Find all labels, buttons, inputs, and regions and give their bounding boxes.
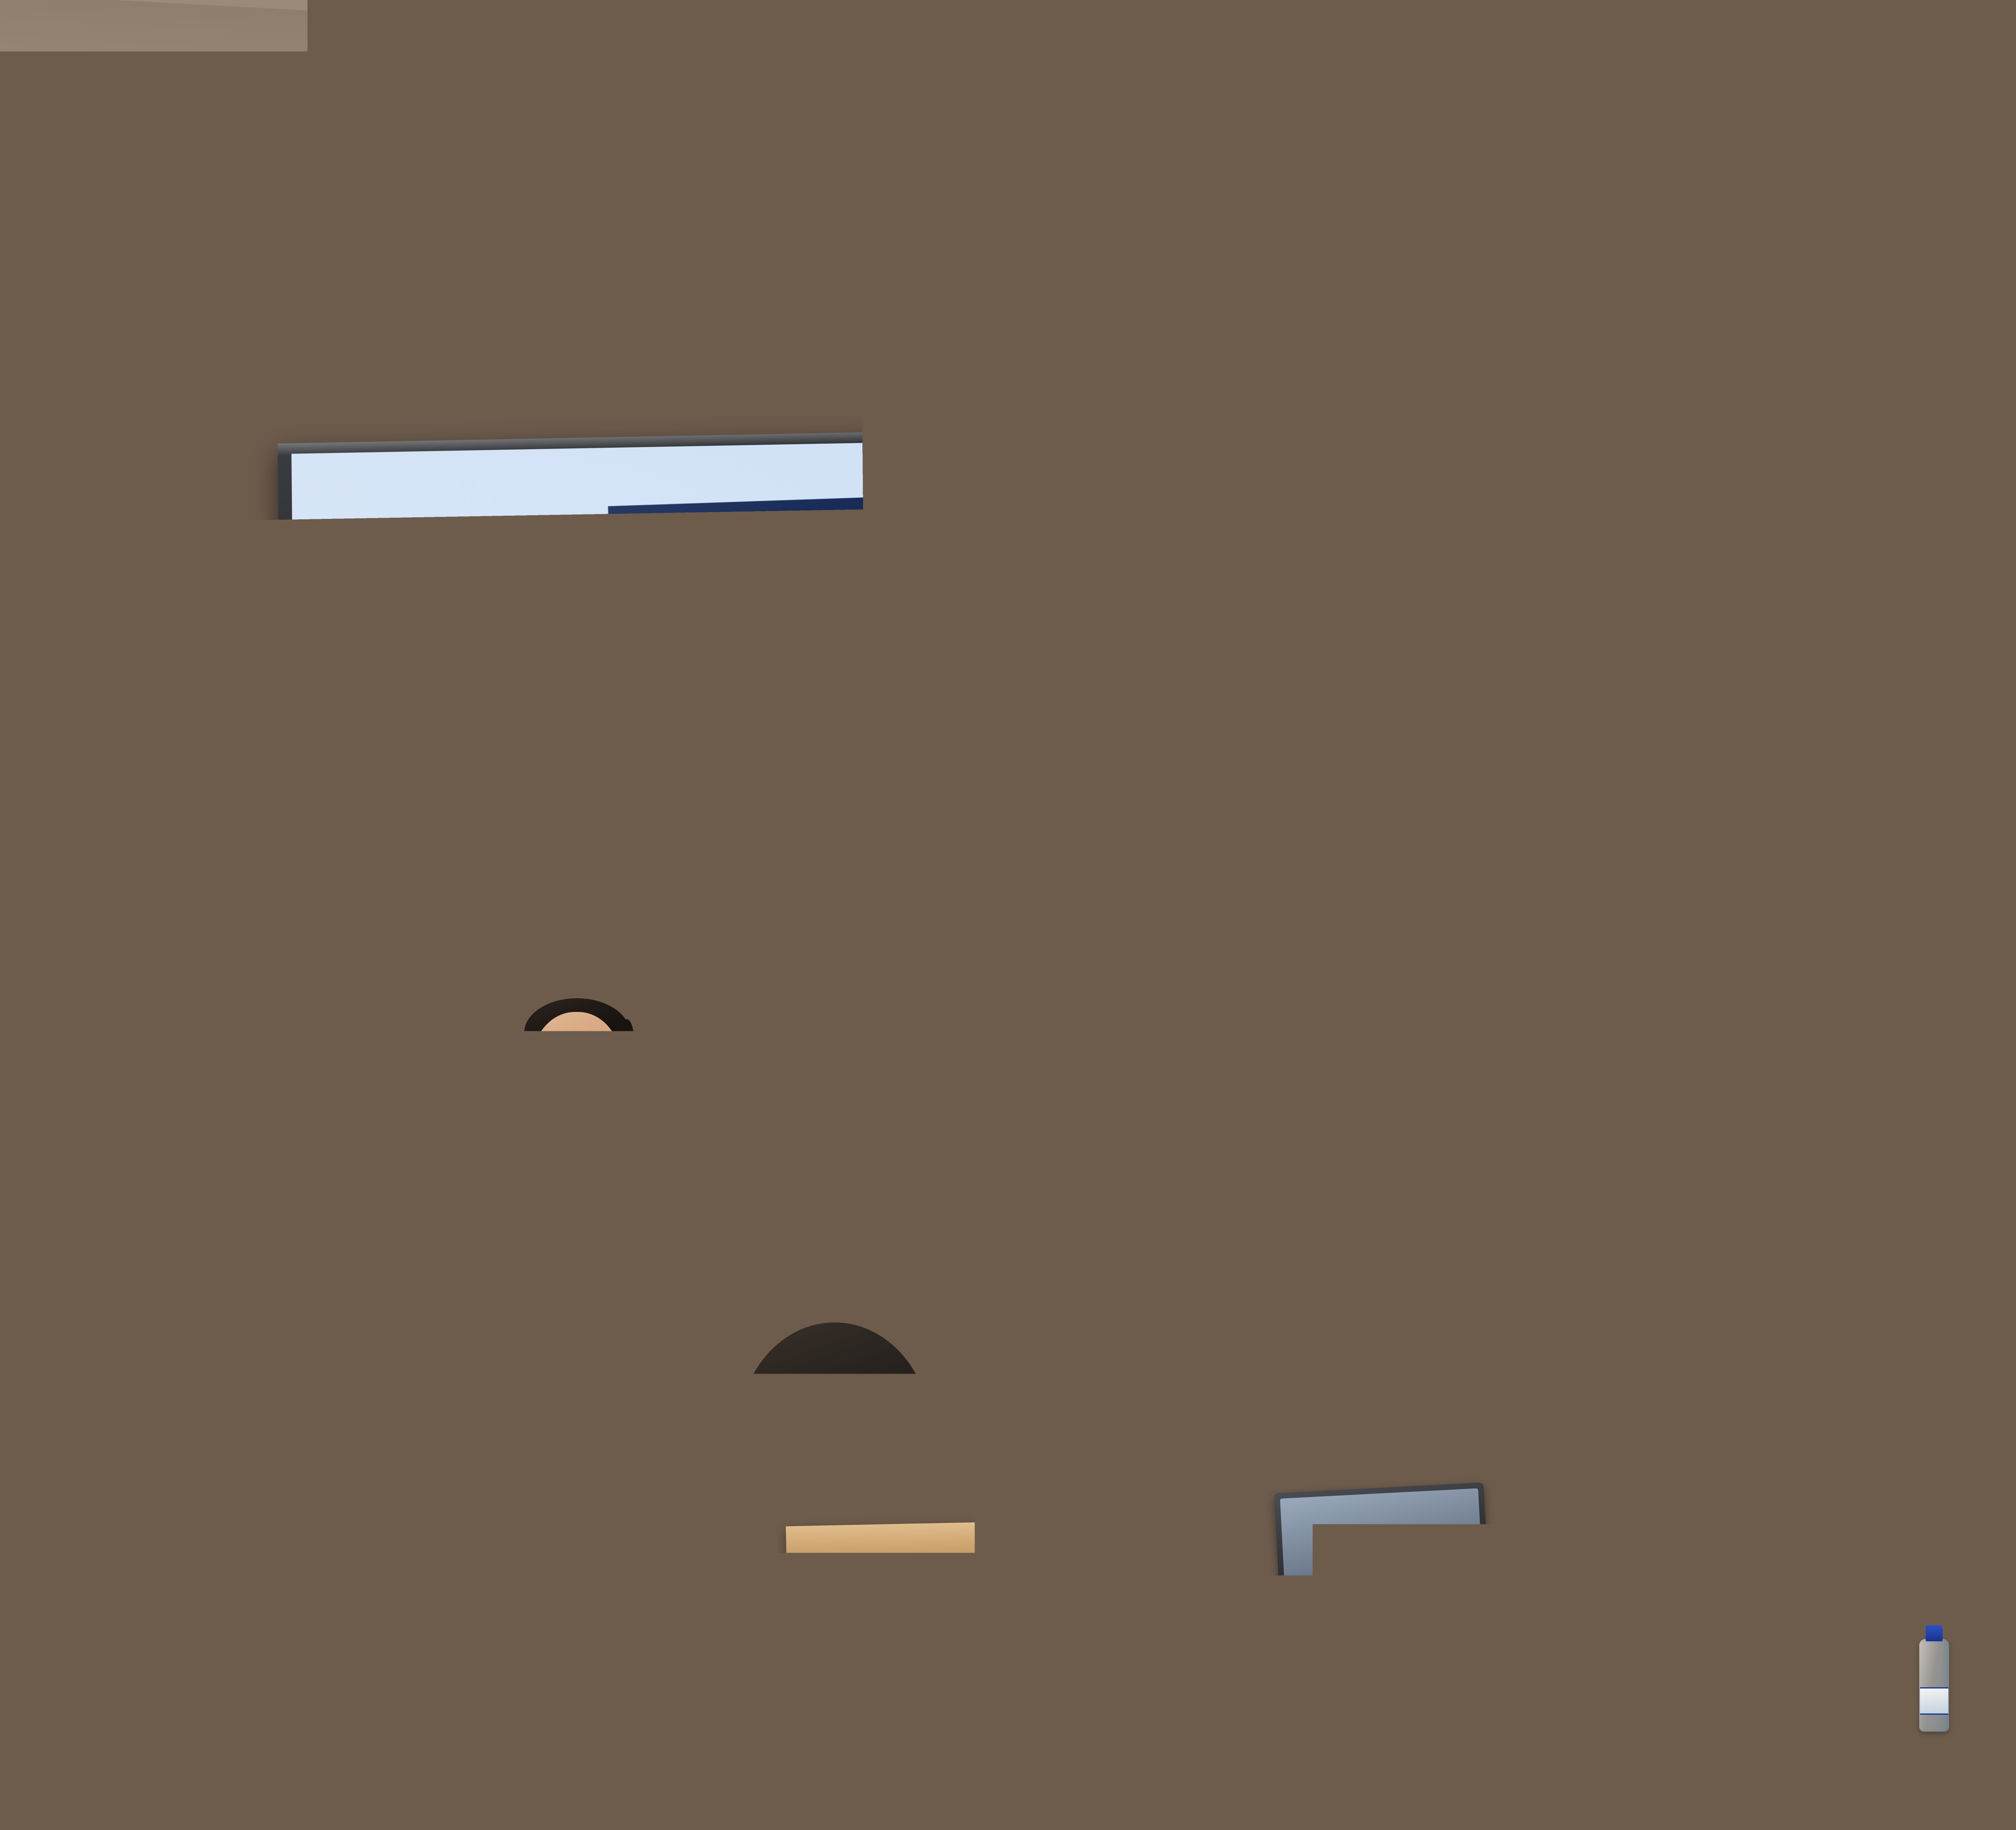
ceiling-downlight [667, 399, 728, 424]
belt-buckle [610, 1439, 635, 1459]
lecture-hall-photo: ResNets z0 = W0x̃ zk+1 = zk + Wk+1σ ∘ (z… [0, 0, 2016, 1830]
tumbler-cup [1048, 1750, 1100, 1830]
water-bottle [208, 1507, 238, 1600]
belt [481, 1435, 670, 1463]
ceiling-downlight [1230, 369, 1290, 394]
glasses-icon [581, 1055, 620, 1076]
presenter-left-hand [577, 1355, 637, 1419]
equation-2: zk+1 = zk + Wk+1σ ∘ (zk), k = 0,1,⋯ L − … [715, 973, 1540, 1038]
equation-1: z0 = W0x̃ [964, 830, 1141, 880]
water-bottle [1772, 1624, 1802, 1717]
audience-member-long-hair [331, 1588, 754, 1830]
laptop-screen [1280, 1488, 1486, 1646]
long-hair [464, 1637, 617, 1830]
ceiling [0, 0, 2016, 476]
water-bottle [1919, 1639, 1949, 1732]
presenter-mouth [581, 1096, 607, 1105]
laptop[interactable] [1274, 1482, 1492, 1655]
ceiling-downlight [1806, 343, 1867, 368]
head [1101, 1294, 1290, 1520]
torso [0, 1548, 218, 1830]
conference-badge [581, 1278, 630, 1355]
head [1689, 1355, 1887, 1584]
shirt-placket [569, 1169, 576, 1427]
glasses-icon [539, 1055, 578, 1076]
equation-3: f(x, θ) = WL+1σ ∘ (zL) [889, 1131, 1296, 1185]
wall-seam [1947, 446, 1951, 1453]
water-bottle [1738, 1625, 1768, 1718]
chair-back [1233, 1683, 1518, 1830]
camera-lens-icon [23, 485, 62, 524]
glasses-bridge [578, 1062, 584, 1065]
slide-title: ResNets [395, 535, 582, 594]
audience-member-grey-polo [0, 1379, 210, 1830]
security-camera-icon [4, 464, 69, 509]
